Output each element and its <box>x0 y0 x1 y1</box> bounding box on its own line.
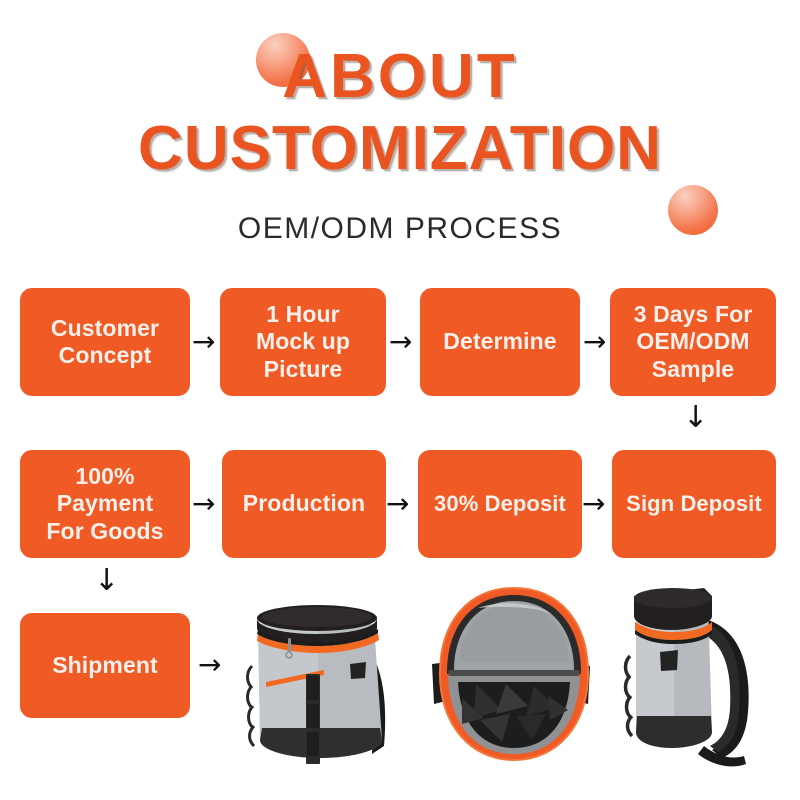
flow-node-label: 3 Days For OEM/ODM Sample <box>634 301 753 382</box>
flow-node-customer-concept[interactable]: Customer Concept <box>20 288 190 396</box>
flow-node-label: Shipment <box>52 652 158 679</box>
flow-node-label: 1 Hour Mock up Picture <box>256 301 350 382</box>
flow-node-label: 30% Deposit <box>434 491 566 517</box>
flow-arrow-down-to-row3: ↓ <box>94 566 119 596</box>
flow-node-shipment[interactable]: Shipment <box>20 613 190 718</box>
flow-arrow-r2-a: → <box>192 490 215 518</box>
flow-node-deposit-30[interactable]: 30% Deposit <box>418 450 582 558</box>
flow-arrow-r1-b: → <box>389 328 412 356</box>
product-image-cooler-backpack-side <box>612 560 792 795</box>
flow-node-determine[interactable]: Determine <box>420 288 580 396</box>
flow-arrow-r1-a: → <box>192 328 215 356</box>
flow-arrow-r2-c: → <box>582 490 605 518</box>
page-root: ABOUT CUSTOMIZATION OEM/ODM PROCESS Cust… <box>0 0 800 800</box>
product-image-cooler-backpack-front <box>232 578 412 793</box>
flow-node-label: Production <box>243 490 365 517</box>
flow-arrow-r1-c: → <box>583 328 606 356</box>
product-image-cooler-backpack-open <box>418 578 608 793</box>
flow-node-label: Determine <box>443 328 556 355</box>
flow-node-label: Customer Concept <box>51 315 159 369</box>
cooler-backpack-side-svg <box>612 560 792 795</box>
flow-node-mock-up-picture[interactable]: 1 Hour Mock up Picture <box>220 288 386 396</box>
flow-node-oem-odm-sample[interactable]: 3 Days For OEM/ODM Sample <box>610 288 776 396</box>
cooler-backpack-front-svg <box>232 578 412 793</box>
flow-arrow-r2-b: → <box>386 490 409 518</box>
cooler-backpack-open-svg <box>418 578 608 793</box>
flow-node-label: 100% Payment For Goods <box>46 463 163 544</box>
flow-arrow-down-to-row2: ↓ <box>683 403 708 433</box>
flow-node-sign-deposit[interactable]: Sign Deposit <box>612 450 776 558</box>
flow-node-production[interactable]: Production <box>222 450 386 558</box>
flow-arrow-r3-a: → <box>198 651 221 679</box>
flow-node-label: Sign Deposit <box>626 491 762 517</box>
flow-node-payment-for-goods[interactable]: 100% Payment For Goods <box>20 450 190 558</box>
